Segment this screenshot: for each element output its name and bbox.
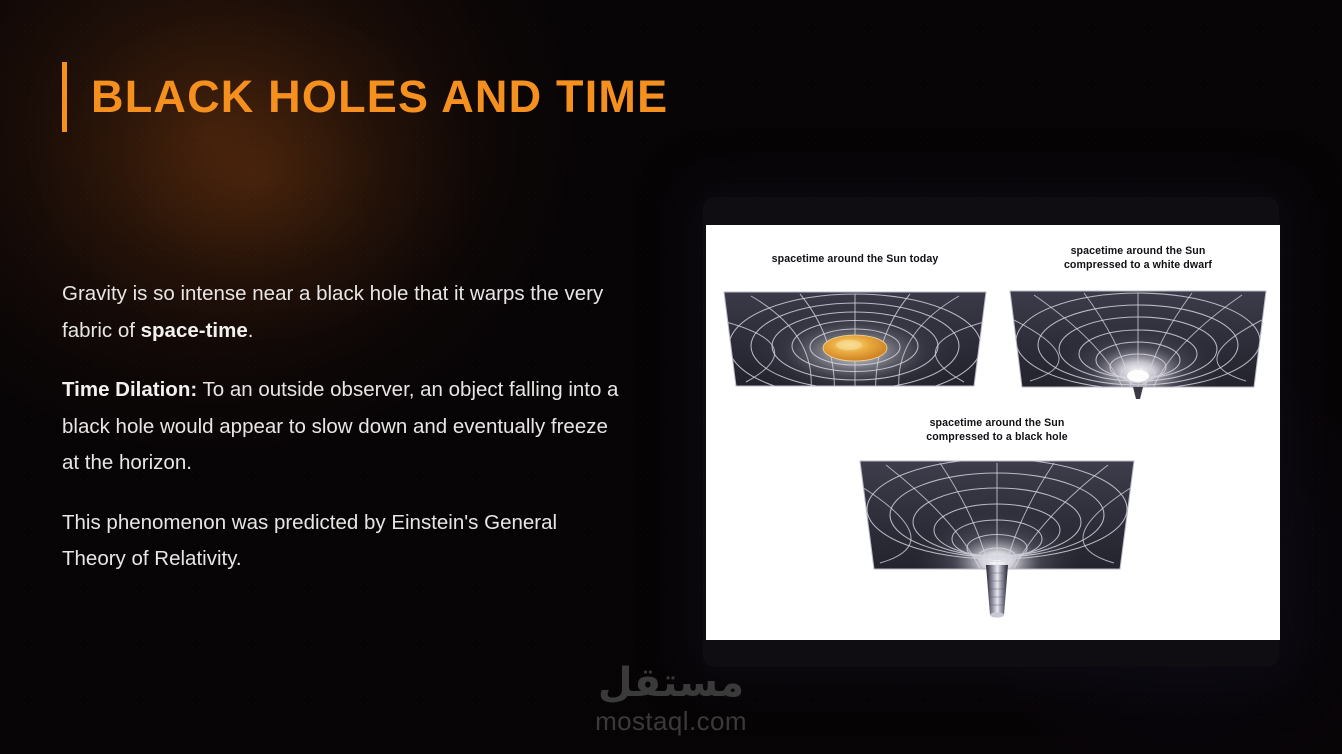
figure-caption-sun-today: spacetime around the Sun today (716, 253, 994, 267)
title-accent-bar (62, 62, 67, 132)
figure-panel: spacetime around the Sun today (703, 197, 1279, 667)
figure-panel-footer-bar (703, 640, 1279, 667)
watermark-latin: mostaql.com (0, 706, 1342, 736)
figure-art-white-dwarf (1004, 275, 1272, 415)
watermark: مستقل mostaql.com (0, 660, 1342, 736)
presentation-slide: BLACK HOLES AND TIME Gravity is so inten… (0, 0, 1342, 754)
figure-caption-black-hole-line2: compressed to a black hole (852, 431, 1142, 445)
spacetime-grid-deep-icon (852, 447, 1142, 622)
paragraph-gravity-tail: . (248, 319, 254, 342)
figure-caption-white-dwarf-line1: spacetime around the Sun (1004, 245, 1272, 259)
figure-art-sun-today (716, 270, 994, 398)
term-space-time: space-time (141, 319, 248, 342)
spacetime-grid-medium-icon (1004, 275, 1272, 415)
slide-title-block: BLACK HOLES AND TIME (62, 62, 668, 132)
paragraph-time-dilation: Time Dilation: To an outside observer, a… (62, 372, 622, 482)
spacetime-grid-shallow-icon (716, 270, 994, 398)
figure-caption-black-hole-line1: spacetime around the Sun (852, 417, 1142, 431)
figure-caption-black-hole: spacetime around the Sun compressed to a… (852, 417, 1142, 444)
figure-caption-white-dwarf-line2: compressed to a white dwarf (1004, 259, 1272, 273)
term-time-dilation: Time Dilation: (62, 378, 197, 401)
body-text-column: Gravity is so intense near a black hole … (62, 276, 622, 578)
paragraph-relativity: This phenomenon was predicted by Einstei… (62, 505, 622, 578)
figure-panel-image: spacetime around the Sun today (706, 225, 1280, 640)
figure-caption-white-dwarf: spacetime around the Sun compressed to a… (1004, 245, 1272, 272)
figure-sun-today: spacetime around the Sun today (716, 253, 994, 398)
page-title: BLACK HOLES AND TIME (91, 62, 668, 132)
figure-black-hole: spacetime around the Sun compressed to a… (852, 417, 1142, 622)
paragraph-gravity: Gravity is so intense near a black hole … (62, 276, 622, 349)
figure-art-black-hole (852, 447, 1142, 622)
figure-white-dwarf: spacetime around the Sun compressed to a… (1004, 245, 1272, 415)
